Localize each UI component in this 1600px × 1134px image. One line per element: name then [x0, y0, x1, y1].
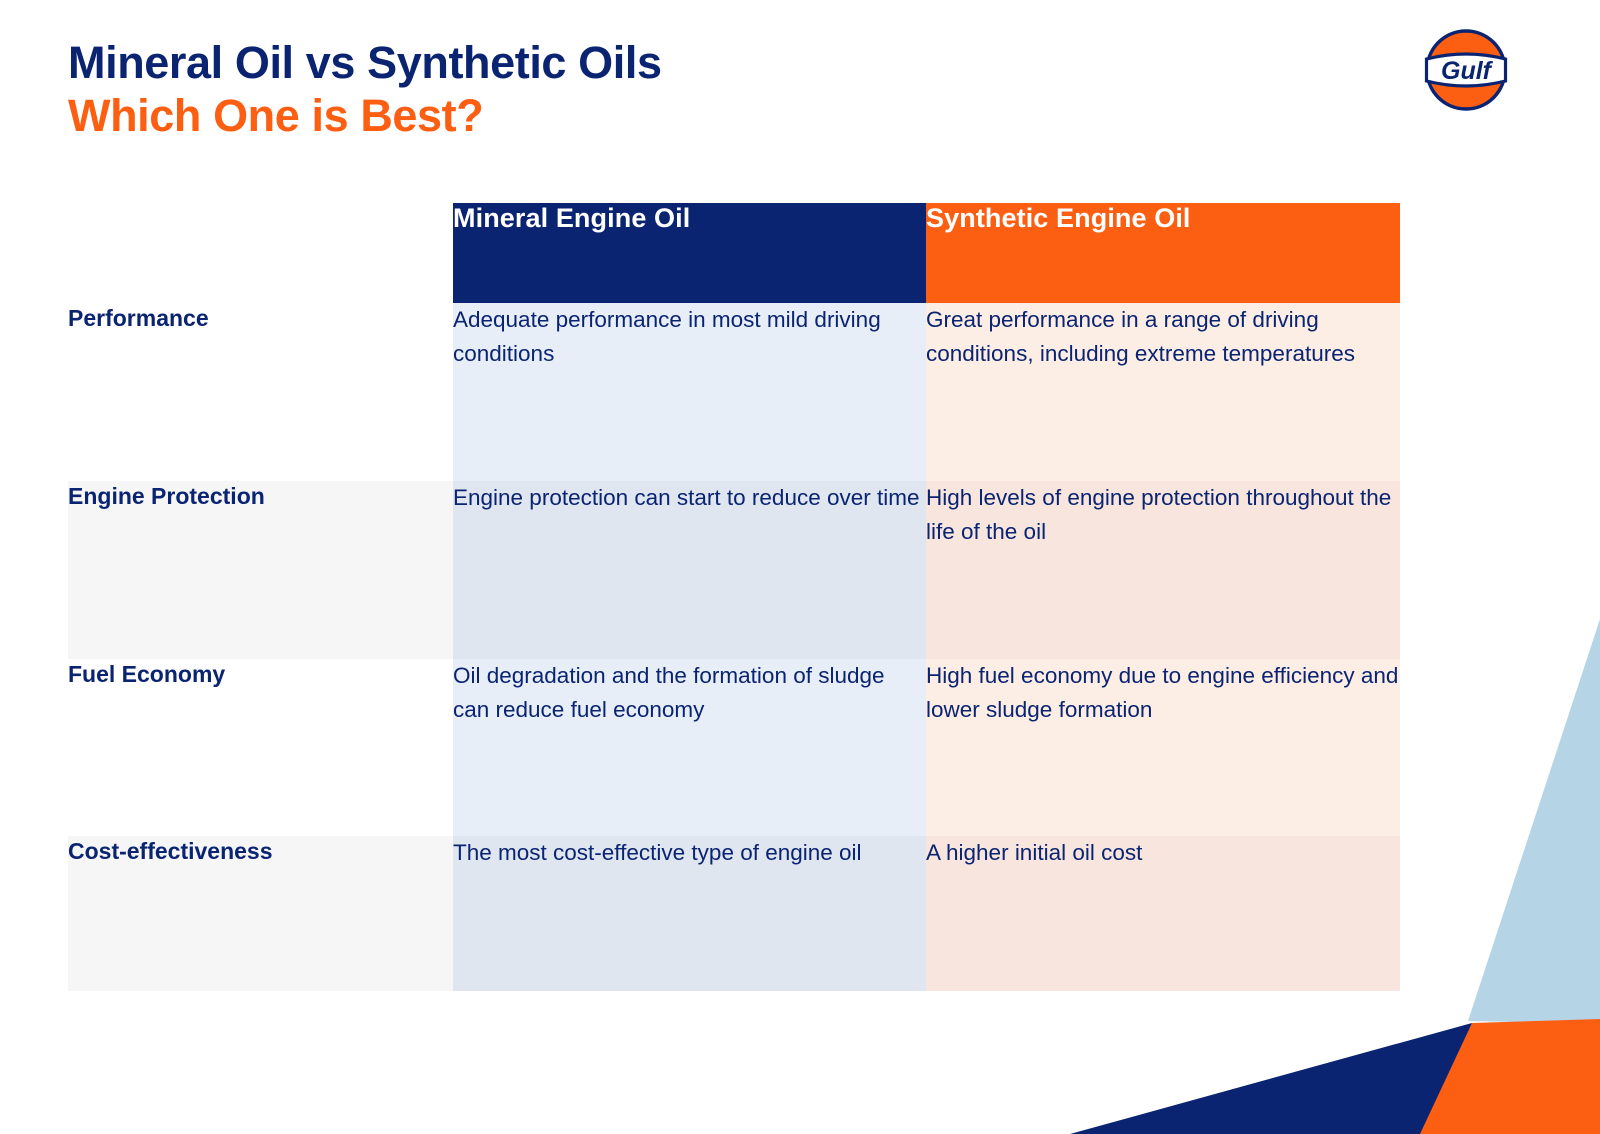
deco-navy-wedge [1070, 1023, 1472, 1134]
page-title-primary: Mineral Oil vs Synthetic Oils [68, 36, 662, 89]
table-row: Engine Protection Engine protection can … [68, 481, 1400, 659]
cell-mineral-engine-protection: Engine protection can start to reduce ov… [453, 481, 926, 659]
row-label-fuel-economy: Fuel Economy [68, 659, 453, 836]
gulf-wordmark: Gulf [1441, 57, 1494, 85]
header-cell-blank [68, 203, 453, 303]
cell-mineral-fuel-economy: Oil degradation and the formation of slu… [453, 659, 926, 836]
deco-light-blue-wedge [1468, 619, 1600, 1024]
comparison-table: Mineral Engine Oil Synthetic Engine Oil … [68, 203, 1400, 991]
cell-mineral-cost-effectiveness: The most cost-effective type of engine o… [453, 836, 926, 991]
page-title-secondary: Which One is Best? [68, 89, 662, 142]
header-cell-mineral: Mineral Engine Oil [453, 203, 926, 303]
table-row: Performance Adequate performance in most… [68, 303, 1400, 481]
table-header: Mineral Engine Oil Synthetic Engine Oil [68, 203, 1400, 303]
table-row: Cost-effectiveness The most cost-effecti… [68, 836, 1400, 991]
cell-synthetic-performance: Great performance in a range of driving … [926, 303, 1400, 481]
table-row: Fuel Economy Oil degradation and the for… [68, 659, 1400, 836]
header-cell-synthetic: Synthetic Engine Oil [926, 203, 1400, 303]
row-label-performance: Performance [68, 303, 453, 481]
table-body: Performance Adequate performance in most… [68, 303, 1400, 991]
cell-synthetic-engine-protection: High levels of engine protection through… [926, 481, 1400, 659]
gulf-logo-icon: Gulf [1424, 29, 1508, 111]
cell-synthetic-cost-effectiveness: A higher initial oil cost [926, 836, 1400, 991]
deco-orange-wedge [1410, 1019, 1600, 1134]
row-label-cost-effectiveness: Cost-effectiveness [68, 836, 453, 991]
page-header: Mineral Oil vs Synthetic Oils Which One … [68, 36, 662, 142]
table-header-row: Mineral Engine Oil Synthetic Engine Oil [68, 203, 1400, 303]
cell-mineral-performance: Adequate performance in most mild drivin… [453, 303, 926, 481]
row-label-engine-protection: Engine Protection [68, 481, 453, 659]
cell-synthetic-fuel-economy: High fuel economy due to engine efficien… [926, 659, 1400, 836]
